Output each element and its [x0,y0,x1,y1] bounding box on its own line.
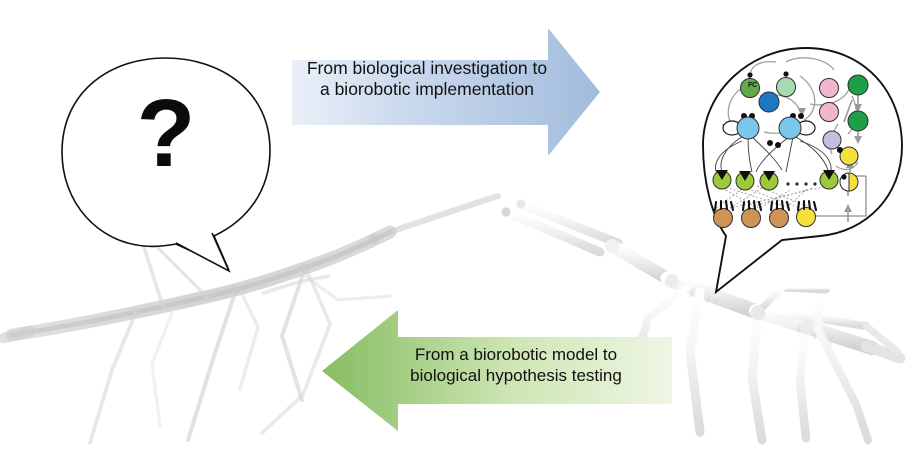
stick-insect-photo [4,196,498,443]
neural-network-bubble [703,48,902,292]
node-mint [777,78,796,97]
hexapod-robot-photo [501,199,900,444]
node-interneuron-left [737,117,759,139]
node-interneuron-right [779,117,801,139]
node-fc [741,79,760,98]
forward-arrow [292,28,600,156]
node-sensor-2 [742,209,761,228]
backward-arrow [322,310,672,431]
node-sensor-4 [797,208,816,227]
question-bubble [62,58,270,271]
node-pink-2 [820,103,839,122]
figure-scene [0,0,912,453]
node-blue-dark [759,92,779,112]
node-sensor-1 [714,209,733,228]
node-sensor-3 [770,209,789,228]
figure-canvas: ? From biological investigation to a bio… [0,0,912,453]
node-lavender [823,131,841,149]
node-green-2 [848,111,868,131]
node-green-1 [848,75,868,95]
node-pink-1 [820,79,839,98]
